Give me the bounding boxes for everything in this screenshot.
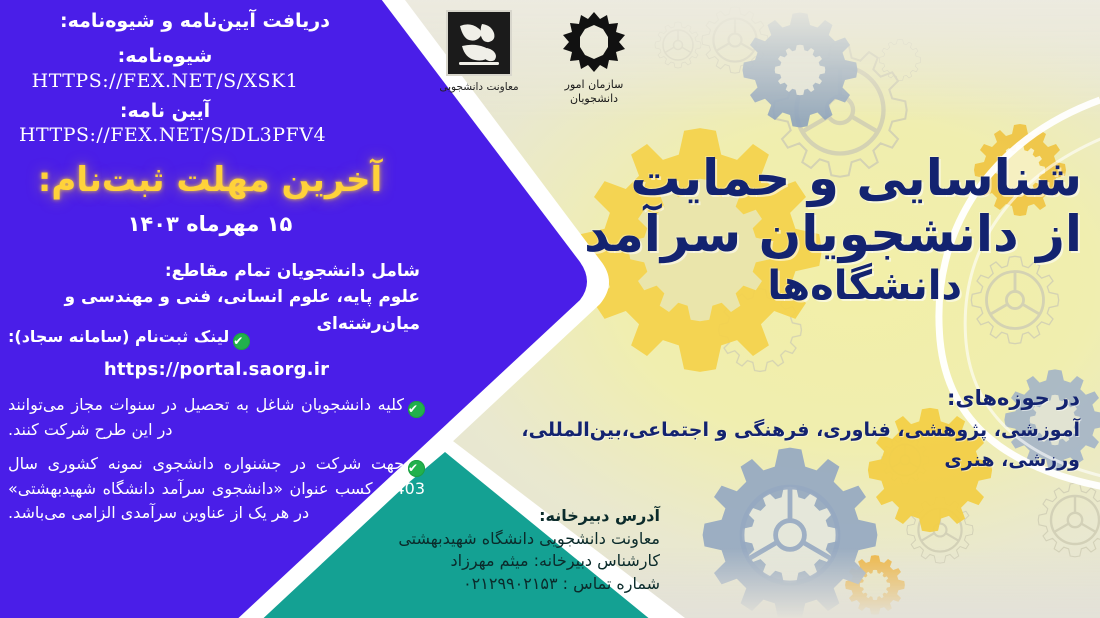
shahid-beheshti-university-logo-icon bbox=[446, 10, 512, 76]
list-item: ✔کلیه دانشجویان شاغل به تحصیل در سنوات م… bbox=[8, 393, 425, 442]
secretariat-line-2: کارشناس دبیرخانه: میثم مهرزاد bbox=[300, 550, 660, 573]
bullet-list: ✔لینک ثبت‌نام (سامانه سجاد): https://por… bbox=[0, 325, 425, 531]
check-circle-icon: ✔ bbox=[408, 460, 425, 477]
starburst-ring-icon bbox=[557, 8, 631, 76]
method-label: شیوه‌نامه: bbox=[0, 45, 330, 67]
organization-logo-caption: سازمان امور دانشجویان bbox=[533, 78, 655, 106]
list-item: ✔لینک ثبت‌نام (سامانه سجاد): bbox=[8, 325, 425, 350]
fields-list: آموزشی، پژوهشی، فناوری، فرهنگی و اجتماعی… bbox=[440, 415, 1080, 476]
organization-logo: سازمان امور دانشجویان bbox=[533, 8, 655, 106]
fields-block: در حوزه‌های: آموزشی، پژوهشی، فناوری، فره… bbox=[440, 383, 1080, 475]
deadline-date: ۱۵ مهرماه ۱۴۰۳ bbox=[0, 212, 420, 236]
page-title: شناسایی و حمایت از دانشجویان سرآمد دانشگ… bbox=[522, 150, 1082, 310]
method-url[interactable]: HTTPS://FEX.NET/S/XSK1 bbox=[0, 70, 330, 92]
title-line-2: از دانشجویان سرآمد bbox=[522, 206, 1082, 262]
registration-link-label: لینک ثبت‌نام (سامانه سجاد): bbox=[8, 327, 229, 346]
registration-link-url[interactable]: https://portal.saorg.ir bbox=[8, 356, 425, 383]
logo-group: معاونت دانشجویی سازمان امور دانشجویان bbox=[425, 6, 655, 114]
title-line-1: شناسایی و حمایت bbox=[522, 150, 1082, 206]
university-logo: معاونت دانشجویی bbox=[425, 10, 533, 93]
regulation-label: آیین نامه: bbox=[0, 100, 330, 122]
check-circle-icon: ✔ bbox=[233, 333, 250, 350]
deadline-heading: آخرین مهلت ثبت‌نام: bbox=[0, 160, 420, 200]
secretariat-phone: شماره تماس : ۰۲۱۲۹۹۰۲۱۵۳ bbox=[300, 573, 660, 596]
secretariat-heading: آدرس دبیرخانه: bbox=[300, 505, 660, 528]
poster-canvas: معاونت دانشجویی سازمان امور دانشجویان در… bbox=[0, 0, 1100, 618]
fields-heading: در حوزه‌های: bbox=[440, 383, 1080, 415]
title-line-3: دانشگاه‌ها bbox=[522, 262, 1082, 310]
scope-line-1: شامل دانشجویان تمام مقاطع: bbox=[10, 258, 420, 284]
university-logo-caption: معاونت دانشجویی bbox=[425, 81, 533, 93]
check-circle-icon: ✔ bbox=[408, 401, 425, 418]
download-heading: دریافت آیین‌نامه و شیوه‌نامه: bbox=[0, 8, 330, 36]
secretariat-address-block: آدرس دبیرخانه: معاونت دانشجویی دانشگاه ش… bbox=[300, 505, 660, 596]
eligibility-note: کلیه دانشجویان شاغل به تحصیل در سنوات مج… bbox=[8, 395, 404, 439]
regulation-url[interactable]: HTTPS://FEX.NET/S/DL3PFV4 bbox=[0, 124, 345, 146]
secretariat-line-1: معاونت دانشجویی دانشگاه شهیدبهشتی bbox=[300, 528, 660, 551]
